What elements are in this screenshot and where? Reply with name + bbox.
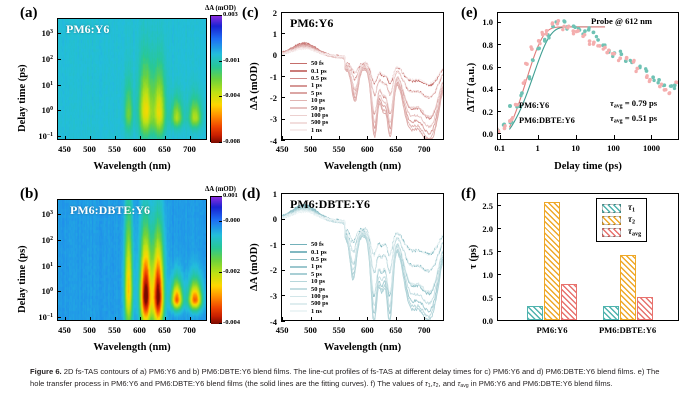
y-tick-mark — [57, 240, 61, 241]
data-point — [503, 124, 506, 127]
x-tick-mark — [115, 136, 116, 140]
legend-label: 1 ps — [311, 263, 322, 270]
panel-d-xlabel: Wavelength (nm) — [281, 342, 444, 353]
x-tick-mark — [396, 136, 397, 140]
x-tick: 500 — [76, 325, 104, 335]
panel-f-tau-bars: (f) τ (ps) 0.00.51.01.52.02.5 PM6:Y6PM6:… — [458, 181, 700, 361]
x-tick-mark — [190, 317, 191, 321]
data-point — [645, 74, 648, 77]
legend-label: 50 ps — [311, 105, 325, 112]
x-tick-mark — [424, 317, 425, 321]
legend-item: 100 ps — [290, 293, 328, 300]
data-point — [524, 62, 527, 65]
data-point — [595, 35, 598, 38]
data-point — [529, 45, 532, 48]
y-tick: 100 — [23, 286, 53, 296]
colorbar-tick-mark — [219, 96, 222, 97]
x-tick: 700 — [410, 144, 438, 154]
x-tick-mark — [165, 317, 166, 321]
legend-line-swatch — [290, 92, 307, 94]
legend-line-swatch — [290, 115, 307, 117]
bar — [620, 255, 636, 320]
y-tick: 2.0 — [473, 224, 493, 234]
y-tick: -2 — [259, 93, 277, 103]
legend-line-swatch — [290, 266, 307, 268]
legend-item: τ2 — [602, 214, 641, 226]
data-point — [567, 24, 570, 27]
x-tick: 650 — [151, 325, 179, 335]
x-tick: 500 — [297, 325, 325, 335]
data-point — [648, 80, 651, 83]
caption-label: Figure 6. — [30, 367, 62, 376]
y-tick-mark — [281, 244, 285, 245]
data-point — [573, 26, 576, 29]
data-point — [519, 94, 522, 97]
legend-line-swatch — [290, 288, 307, 290]
data-point — [543, 38, 546, 41]
legend-line-swatch — [290, 303, 307, 305]
legend-label: 50 fs — [311, 60, 324, 67]
y-tick: 2.5 — [473, 201, 493, 211]
bar — [603, 306, 619, 320]
y-tick: 103 — [23, 28, 53, 38]
data-point — [588, 43, 591, 46]
tau-avg-annotation: τavg = 0.51 ps — [610, 113, 657, 124]
legend-label: 500 ps — [311, 300, 328, 307]
x-tick-mark — [396, 317, 397, 321]
y-tick-mark — [281, 76, 285, 77]
y-tick-mark — [497, 44, 501, 45]
legend-line-swatch — [290, 85, 307, 87]
x-tick: 550 — [325, 325, 353, 335]
legend-line-swatch — [290, 122, 307, 124]
panel-a-colorbar-canvas — [211, 16, 222, 143]
legend-label: 100 ps — [311, 112, 328, 119]
legend-label: 1 ns — [311, 127, 322, 134]
panel-e-probe-note: Probe @ 612 nm — [591, 16, 652, 26]
x-tick-mark — [339, 136, 340, 140]
data-point — [536, 47, 539, 50]
y-tick: 1.5 — [473, 247, 493, 257]
x-tick: 650 — [382, 144, 410, 154]
panel-b-xlabel: Wavelength (nm) — [57, 342, 207, 353]
y-tick: 0.8 — [473, 40, 493, 50]
legend-label: τ1 — [628, 202, 635, 213]
data-point — [575, 30, 578, 33]
data-point — [556, 19, 560, 23]
y-tick-mark — [57, 266, 61, 267]
data-point — [545, 32, 548, 35]
y-tick: 0.0 — [473, 316, 493, 326]
x-tick: 600 — [126, 144, 154, 154]
legend-swatch — [602, 204, 621, 213]
data-point — [583, 29, 587, 33]
legend-label: τ2 — [628, 214, 635, 225]
x-tick-mark — [140, 136, 141, 140]
y-tick-mark — [497, 320, 501, 321]
x-tick-mark — [65, 136, 66, 140]
legend-label: 50 fs — [311, 241, 324, 248]
legend-label: 50 ps — [311, 286, 325, 293]
panel-b-ylabel: Delay time (ps) — [17, 245, 28, 313]
legend-item: 1 ns — [290, 308, 328, 315]
x-tick: 600 — [353, 144, 381, 154]
legend-item: 5 ps — [290, 90, 328, 97]
data-point — [652, 79, 655, 82]
x-tick: 500 — [297, 144, 325, 154]
x-tick: 450 — [268, 144, 296, 154]
legend-line-swatch — [290, 70, 307, 72]
x-tick: 700 — [176, 325, 204, 335]
caption-tail: in PM6:Y6 and PM6:DBTE:Y6 blend films. — [469, 379, 613, 388]
x-tick: 450 — [268, 325, 296, 335]
panel-c-label: (c) — [242, 5, 259, 22]
tau-avg-annotation: τavg = 0.79 ps — [610, 98, 657, 109]
legend-line-swatch — [290, 244, 307, 246]
legend-label: τavg — [628, 226, 641, 237]
y-tick-mark — [497, 22, 501, 23]
legend-item: 500 ps — [290, 300, 328, 307]
legend-label: 1 ns — [311, 308, 322, 315]
colorbar-tick-mark — [219, 272, 222, 273]
y-tick-mark — [497, 67, 501, 68]
x-tick: 700 — [410, 325, 438, 335]
legend-item: 0.5 ps — [290, 75, 328, 82]
y-tick-mark — [57, 214, 61, 215]
data-point — [588, 39, 592, 43]
data-point — [528, 77, 531, 80]
x-tick-mark — [282, 317, 283, 321]
y-tick: 0.2 — [473, 107, 493, 117]
bar — [544, 202, 560, 320]
y-tick-mark — [497, 89, 501, 90]
y-tick: 0 — [259, 214, 277, 224]
data-point — [540, 31, 543, 34]
panel-f-plot-area — [498, 194, 678, 320]
panel-a-heatmap: (a) PM6:Y6 Delay time (ps) Wavelength (n… — [0, 0, 240, 180]
data-point — [660, 83, 663, 86]
x-tick-mark — [500, 135, 501, 139]
y-tick: -2 — [259, 265, 277, 275]
panel-b-title: PM6:DBTE:Y6 — [70, 203, 150, 218]
y-tick: 0.5 — [473, 293, 493, 303]
y-tick-mark — [497, 111, 501, 112]
panel-b-colorbar-canvas — [211, 197, 222, 324]
panel-c-linecuts: (c) PM6:Y6 ΔA (mOD) Wavelength (nm) 210-… — [238, 0, 460, 180]
x-tick: 10 — [560, 143, 592, 153]
data-point — [619, 50, 622, 53]
legend-item: 10 ps — [290, 97, 328, 104]
legend-label: 1 ps — [311, 82, 322, 89]
legend-swatch — [602, 228, 621, 237]
y-tick-mark — [281, 97, 285, 98]
legend-label: 0.1 ps — [311, 249, 327, 256]
y-tick: 101 — [23, 261, 53, 271]
y-tick: 1.0 — [473, 17, 493, 27]
y-tick: 0.0 — [473, 129, 493, 139]
y-tick-mark — [57, 136, 61, 137]
panel-d-label: (d) — [242, 186, 260, 203]
data-point — [611, 52, 614, 55]
legend-label: 500 ps — [311, 119, 328, 126]
y-tick: 102 — [23, 235, 53, 245]
x-tick: 0.1 — [484, 143, 516, 153]
x-tick: 500 — [76, 144, 104, 154]
caption-and: , and — [438, 379, 457, 388]
legend-item: 500 ps — [290, 119, 328, 126]
x-tick: 550 — [101, 325, 129, 335]
y-tick: 101 — [23, 80, 53, 90]
data-point — [632, 59, 635, 62]
legend-line-swatch — [290, 281, 307, 283]
legend-label: PM6:Y6 — [519, 101, 549, 110]
data-point — [547, 36, 550, 39]
legend-item: τavg — [602, 226, 641, 238]
x-tick-mark — [165, 136, 166, 140]
legend-label: 0.1 ps — [311, 68, 327, 75]
panel-e-xlabel: Delay time (ps) — [497, 161, 679, 172]
data-point — [596, 38, 600, 42]
x-tick-mark — [339, 317, 340, 321]
y-tick-mark — [281, 140, 285, 141]
y-tick: -3 — [259, 114, 277, 124]
legend-item: 10 ps — [290, 278, 328, 285]
data-point — [562, 25, 566, 29]
x-tick-mark — [538, 135, 539, 139]
y-tick-mark — [281, 270, 285, 271]
legend-line-swatch — [290, 296, 307, 298]
y-tick-mark — [57, 291, 61, 292]
colorbar-tick: 0.001 — [223, 192, 238, 199]
colorbar-tick-mark — [219, 196, 222, 197]
y-tick-mark — [281, 119, 285, 120]
legend-line-swatch — [290, 107, 307, 109]
x-tick: 100 — [598, 143, 630, 153]
y-tick: 10−1 — [23, 131, 53, 141]
colorbar-tick-mark — [219, 61, 222, 62]
data-point — [644, 67, 647, 70]
y-tick: 0 — [259, 50, 277, 60]
legend-label: 0.5 ps — [311, 75, 327, 82]
y-tick: 1 — [259, 29, 277, 39]
data-point — [596, 44, 599, 47]
data-point — [664, 88, 667, 91]
legend-swatch — [602, 216, 621, 225]
legend-dot — [508, 119, 512, 123]
y-tick-mark — [281, 55, 285, 56]
legend-line-swatch — [290, 310, 307, 312]
x-tick-mark — [311, 317, 312, 321]
data-point — [617, 59, 620, 62]
legend-label: 100 ps — [311, 293, 328, 300]
data-point — [587, 26, 590, 29]
legend-item: 50 fs — [290, 241, 328, 248]
y-tick: 103 — [23, 209, 53, 219]
x-tick-mark — [367, 317, 368, 321]
y-tick: -1 — [259, 72, 277, 82]
x-tick-mark — [90, 317, 91, 321]
x-tick-mark — [614, 135, 615, 139]
x-tick-mark — [282, 136, 283, 140]
y-tick-mark — [57, 59, 61, 60]
legend-line-swatch — [290, 78, 307, 80]
panel-b-heatmap: (b) PM6:DBTE:Y6 Delay time (ps) Waveleng… — [0, 181, 240, 361]
legend-item: PM6:Y6 — [508, 101, 549, 110]
y-tick-mark — [497, 205, 501, 206]
data-point — [638, 65, 641, 68]
y-tick-mark — [281, 33, 285, 34]
panel-a-xlabel: Wavelength (nm) — [57, 161, 207, 172]
data-point — [625, 57, 628, 60]
x-tick-mark — [367, 136, 368, 140]
y-tick-mark — [497, 274, 501, 275]
panel-a-canvas — [58, 19, 206, 139]
legend-item: τ1 — [602, 202, 641, 214]
x-tick-mark — [115, 317, 116, 321]
x-tick-mark — [65, 317, 66, 321]
x-tick: 1000 — [635, 143, 667, 153]
legend-label: 10 ps — [311, 278, 325, 285]
data-point — [592, 31, 595, 34]
figure-caption: Figure 6. 2D fs-TAS contours of a) PM6:Y… — [30, 366, 675, 391]
y-tick-mark — [281, 219, 285, 220]
colorbar-tick-mark — [219, 142, 222, 143]
category-label: PM6:DBTE:Y6 — [583, 325, 673, 335]
x-tick: 600 — [126, 325, 154, 335]
figure-6: (a) PM6:Y6 Delay time (ps) Wavelength (n… — [0, 0, 700, 408]
caption-tau3-sub: avg — [460, 383, 468, 389]
data-point — [668, 91, 671, 94]
legend-label: 10 ps — [311, 97, 325, 104]
bar — [527, 306, 543, 320]
legend-dot — [508, 104, 512, 108]
legend-line-swatch — [290, 100, 307, 102]
x-tick: 700 — [176, 144, 204, 154]
data-point — [651, 75, 655, 79]
data-point — [562, 19, 565, 22]
panel-b-colorbar — [210, 196, 221, 323]
y-tick: 0.4 — [473, 84, 493, 94]
data-point — [635, 67, 639, 71]
panel-c-title: PM6:Y6 — [290, 16, 333, 31]
x-tick: 650 — [382, 325, 410, 335]
data-point — [669, 84, 672, 87]
legend-label: 0.5 ps — [311, 256, 327, 263]
data-point — [592, 42, 595, 45]
y-tick-mark — [57, 317, 61, 318]
legend-item: 0.1 ps — [290, 248, 328, 255]
colorbar-tick-mark — [219, 221, 222, 222]
y-tick-mark — [497, 251, 501, 252]
x-tick: 450 — [51, 325, 79, 335]
data-point — [572, 32, 575, 35]
legend-item: 1 ps — [290, 263, 328, 270]
data-point — [583, 33, 586, 36]
legend-label: 5 ps — [311, 90, 322, 97]
y-tick: 100 — [23, 105, 53, 115]
data-point — [629, 59, 632, 62]
data-point — [634, 70, 637, 73]
panel-a-title: PM6:Y6 — [66, 22, 109, 37]
panel-b-label: (b) — [20, 186, 38, 203]
data-point — [538, 42, 541, 45]
panel-b-heatmap-image — [58, 200, 206, 320]
legend-item: 5 ps — [290, 271, 328, 278]
y-tick-mark — [57, 33, 61, 34]
data-point — [556, 22, 559, 25]
legend-item: 50 fs — [290, 60, 328, 67]
data-point — [561, 28, 564, 31]
data-point — [602, 47, 605, 50]
data-point — [531, 58, 534, 61]
legend-line-swatch — [290, 129, 307, 131]
y-tick-mark — [281, 12, 285, 13]
y-tick-mark — [281, 321, 285, 322]
legend-line-swatch — [290, 63, 307, 65]
y-tick: 102 — [23, 54, 53, 64]
y-tick-mark — [57, 85, 61, 86]
legend-item: 100 ps — [290, 112, 328, 119]
panel-e-hole-transfer: (e) Probe @ 612 nm ΔT/T (a.u.) Delay tim… — [458, 0, 700, 180]
x-tick-mark — [424, 136, 425, 140]
y-tick: -1 — [259, 240, 277, 250]
data-point — [545, 29, 549, 33]
x-tick: 550 — [325, 144, 353, 154]
y-tick: 0.6 — [473, 62, 493, 72]
panel-a-label: (a) — [20, 5, 38, 22]
panel-d-linecuts: (d) PM6:DBTE:Y6 ΔA (mOD) Wavelength (nm)… — [238, 181, 460, 361]
legend-item: PM6:DBTE:Y6 — [508, 116, 575, 125]
y-tick-mark — [281, 295, 285, 296]
legend-line-swatch — [290, 251, 307, 253]
x-tick-mark — [90, 136, 91, 140]
data-point — [523, 79, 526, 82]
panel-a-heatmap-image — [58, 19, 206, 139]
y-tick: 1 — [259, 189, 277, 199]
panel-a-colorbar — [210, 15, 221, 142]
y-tick: 1.0 — [473, 270, 493, 280]
data-point — [551, 21, 554, 24]
y-tick-mark — [281, 193, 285, 194]
panel-f-legend: τ1τ2τavg — [596, 198, 647, 242]
data-point — [607, 49, 610, 52]
y-tick-mark — [57, 110, 61, 111]
bar — [637, 297, 653, 320]
legend-label: 5 ps — [311, 271, 322, 278]
x-tick-mark — [311, 136, 312, 140]
x-tick: 450 — [51, 144, 79, 154]
legend-line-swatch — [290, 259, 307, 261]
x-tick-mark — [190, 136, 191, 140]
panel-a-ylabel: Delay time (ps) — [17, 64, 28, 132]
colorbar-tick: 0.003 — [223, 11, 238, 18]
x-tick: 650 — [151, 144, 179, 154]
x-tick: 550 — [101, 144, 129, 154]
panel-d-legend: 50 fs0.1 ps0.5 ps1 ps5 ps10 ps50 ps100 p… — [290, 241, 328, 315]
y-tick: 10−1 — [23, 312, 53, 322]
legend-label: PM6:DBTE:Y6 — [519, 116, 575, 125]
y-tick: -3 — [259, 291, 277, 301]
legend-item: 0.1 ps — [290, 67, 328, 74]
colorbar-tick-mark — [219, 15, 222, 16]
x-tick-mark — [651, 135, 652, 139]
legend-item: 1 ns — [290, 127, 328, 134]
legend-item: 0.5 ps — [290, 256, 328, 263]
panel-b-canvas — [58, 200, 206, 320]
panel-c-ylabel: ΔA (mOD) — [249, 62, 260, 110]
legend-item: 1 ps — [290, 82, 328, 89]
panel-c-xlabel: Wavelength (nm) — [281, 161, 444, 172]
